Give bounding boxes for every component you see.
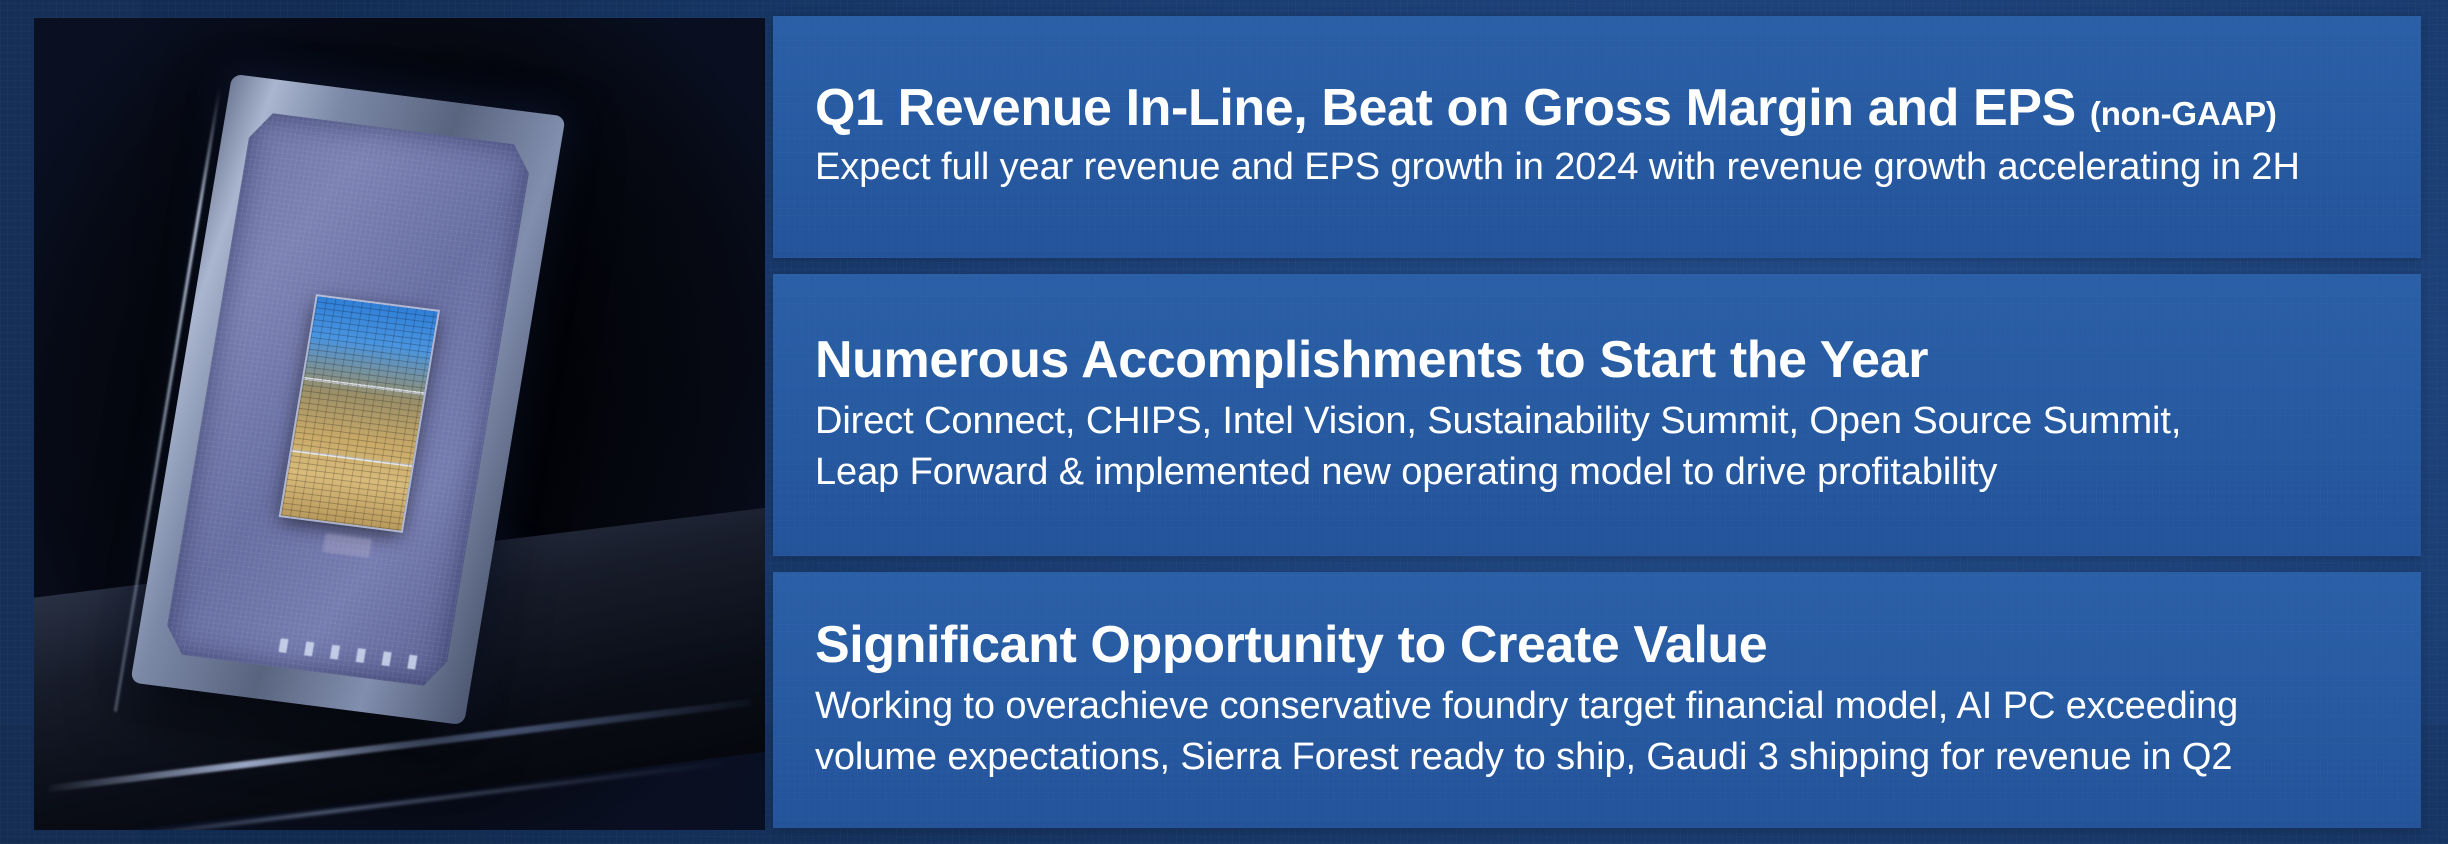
panel-3-body-line-2: volume expectations, Sierra Forest ready…: [815, 732, 2379, 783]
panel-1-headline-text: Q1 Revenue In-Line, Beat on Gross Margin…: [815, 79, 2076, 137]
panel-3-body-line-1: Working to overachieve conservative foun…: [815, 681, 2379, 732]
highlight-panel-1[interactable]: Q1 Revenue In-Line, Beat on Gross Margin…: [773, 16, 2421, 258]
panel-1-body-line-1: Expect full year revenue and EPS growth …: [815, 142, 2379, 193]
highlight-panel-3[interactable]: Significant Opportunity to Create Value …: [773, 572, 2421, 828]
panel-2-body-line-1: Direct Connect, CHIPS, Intel Vision, Sus…: [815, 396, 2379, 447]
panel-2-headline: Numerous Accomplishments to Start the Ye…: [815, 333, 2379, 388]
panel-1-headline: Q1 Revenue In-Line, Beat on Gross Margin…: [815, 81, 2379, 136]
slide-root: Q1 Revenue In-Line, Beat on Gross Margin…: [0, 0, 2448, 844]
highlight-panels: Q1 Revenue In-Line, Beat on Gross Margin…: [773, 0, 2423, 844]
panel-2-body-line-2: Leap Forward & implemented new operating…: [815, 447, 2379, 498]
panel-1-headline-suffix: (non-GAAP): [2090, 95, 2277, 132]
highlight-panel-2[interactable]: Numerous Accomplishments to Start the Ye…: [773, 274, 2421, 556]
product-photo: [34, 18, 765, 830]
panel-3-headline: Significant Opportunity to Create Value: [815, 618, 2379, 673]
